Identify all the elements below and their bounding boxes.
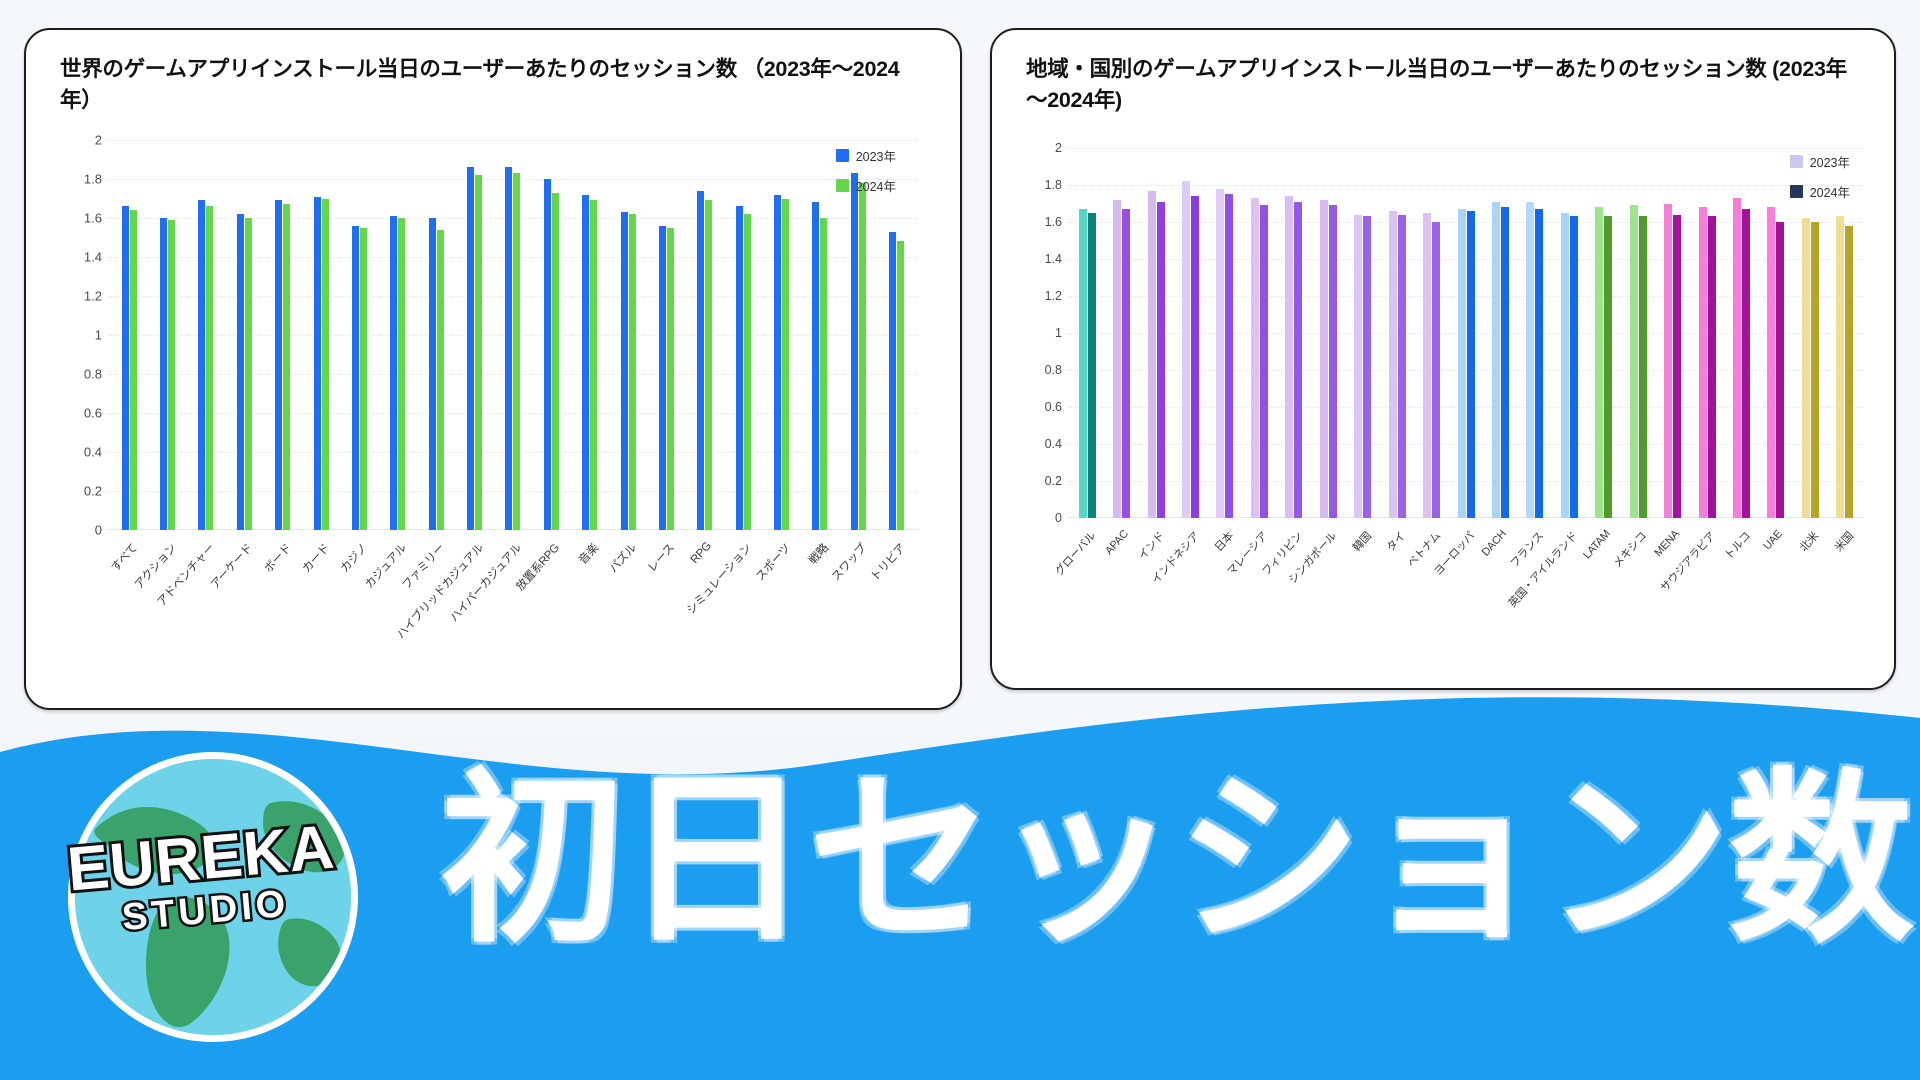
x-axis-label-cell: グローバル bbox=[1070, 524, 1104, 534]
bar-series-container bbox=[110, 140, 916, 530]
y-axis-tick-label: 0 bbox=[1020, 511, 1062, 525]
region-country-plot: 00.20.40.60.811.21.41.61.82 グローバルAPACインド… bbox=[1020, 148, 1868, 688]
bar-group bbox=[1621, 148, 1655, 518]
x-axis-label: APAC bbox=[1103, 528, 1131, 557]
x-axis-label: UAE bbox=[1761, 528, 1785, 552]
x-axis-label-cell: インドネシア bbox=[1173, 524, 1207, 534]
bar-2023 bbox=[774, 195, 781, 530]
x-axis-label-cell: パズル bbox=[609, 536, 647, 546]
bar-2023 bbox=[122, 206, 129, 530]
bar-group bbox=[494, 140, 532, 530]
bar-2024 bbox=[1501, 207, 1509, 518]
x-axis-label-cell: スポーツ bbox=[762, 536, 800, 546]
x-axis-label-cell: 北米 bbox=[1793, 524, 1827, 534]
x-axis-label: 音楽 bbox=[575, 540, 602, 568]
bar-2024 bbox=[130, 210, 137, 530]
x-axis-label-cell: すべて bbox=[110, 536, 148, 546]
y-axis-tick-label: 1.2 bbox=[1020, 289, 1062, 303]
x-axis-label-cell: 音楽 bbox=[571, 536, 609, 546]
bar-2023 bbox=[1320, 200, 1328, 518]
x-axis-label: ボード bbox=[260, 540, 295, 576]
x-axis-label-cell: レース bbox=[647, 536, 685, 546]
bar-2024 bbox=[820, 218, 827, 530]
bar-group bbox=[302, 140, 340, 530]
bar-2023 bbox=[1526, 202, 1534, 518]
x-axis-label-cell: 英国・アイルランド bbox=[1552, 524, 1586, 534]
bar-2024 bbox=[475, 175, 482, 530]
x-axis-label-cell: ベトナム bbox=[1414, 524, 1448, 534]
logo-line-2: STUDIO bbox=[39, 876, 372, 948]
x-axis-label-cell: アクション bbox=[148, 536, 186, 546]
bar-2024 bbox=[1708, 216, 1716, 518]
bar-group bbox=[647, 140, 685, 530]
bar-2024 bbox=[1776, 222, 1784, 518]
bar-2023 bbox=[1423, 213, 1431, 518]
bar-2024 bbox=[206, 206, 213, 530]
bar-group bbox=[379, 140, 417, 530]
y-axis-tick-label: 1.4 bbox=[60, 250, 102, 265]
x-axis-label-cell: カジノ bbox=[340, 536, 378, 546]
x-axis-label-cell: LATAM bbox=[1587, 524, 1621, 534]
x-axis-label: すべて bbox=[107, 540, 141, 575]
bar-2024 bbox=[1398, 215, 1406, 518]
x-axis-label-cell: スワップ bbox=[839, 536, 877, 546]
x-axis-label-cell: ボード bbox=[264, 536, 302, 546]
x-axis-label: タイ bbox=[1383, 528, 1409, 555]
bar-2024 bbox=[1604, 216, 1612, 518]
x-axis-label-cell: メキシコ bbox=[1621, 524, 1655, 534]
bar-group bbox=[1518, 148, 1552, 518]
x-axis-label-cell: DACH bbox=[1483, 524, 1517, 534]
x-axis-label: RPG bbox=[689, 540, 714, 566]
x-axis-label-cell: ファミリー bbox=[417, 536, 455, 546]
bar-2024 bbox=[437, 230, 444, 530]
x-axis-label-cell: ハイブリッドカジュアル bbox=[455, 536, 493, 546]
x-axis-label-cell: ヨーロッパ bbox=[1449, 524, 1483, 534]
bar-2024 bbox=[283, 204, 290, 530]
x-axis-label-cell: シンガポール bbox=[1311, 524, 1345, 534]
x-axis-label: トリビア bbox=[866, 540, 908, 584]
x-axis-label: スポーツ bbox=[751, 540, 793, 584]
x-axis-label-cell: タイ bbox=[1380, 524, 1414, 534]
legend-item[interactable]: 2023年 bbox=[836, 146, 896, 165]
bar-2023 bbox=[1836, 216, 1844, 518]
bar-group bbox=[1346, 148, 1380, 518]
bar-2024 bbox=[1088, 213, 1096, 518]
y-axis-tick-label: 0.8 bbox=[60, 367, 102, 382]
bar-2023 bbox=[275, 200, 282, 530]
bar-2024 bbox=[667, 228, 674, 530]
bar-2023 bbox=[160, 218, 167, 530]
bar-group bbox=[1242, 148, 1276, 518]
plot-axis-area: 00.20.40.60.811.21.41.61.82 bbox=[1020, 148, 1868, 518]
bar-2024 bbox=[1363, 216, 1371, 518]
global-genre-chart-card: 世界のゲームアプリインストール当日のユーザーあたりのセッション数 （2023年～… bbox=[24, 28, 962, 710]
x-axis-label: 北米 bbox=[1796, 528, 1822, 555]
bar-2024 bbox=[398, 218, 405, 530]
bar-group bbox=[1587, 148, 1621, 518]
x-axis-label-cell: UAE bbox=[1759, 524, 1793, 534]
y-axis-tick-label: 0.2 bbox=[60, 484, 102, 499]
legend-swatch-icon bbox=[836, 179, 849, 192]
y-axis-tick-label: 1.6 bbox=[60, 211, 102, 226]
bar-group bbox=[187, 140, 225, 530]
x-axis-label-cell: ハイパーカジュアル bbox=[494, 536, 532, 546]
bar-2023 bbox=[1699, 207, 1707, 518]
bar-group bbox=[264, 140, 302, 530]
bar-2024 bbox=[1432, 222, 1440, 518]
y-axis-tick-label: 0.2 bbox=[1020, 474, 1062, 488]
bar-2024 bbox=[322, 199, 329, 531]
legend-item[interactable]: 2024年 bbox=[1790, 182, 1850, 201]
legend-label: 2024年 bbox=[1810, 182, 1850, 201]
legend-swatch-icon bbox=[836, 149, 849, 162]
plot-axis-area: 00.20.40.60.811.21.41.61.82 bbox=[60, 140, 922, 530]
bar-group bbox=[1104, 148, 1138, 518]
x-axis-label-cell: シミュレーション bbox=[724, 536, 762, 546]
x-axis-label-cell: 米国 bbox=[1828, 524, 1862, 534]
x-axis-label: パズル bbox=[605, 540, 640, 576]
bar-2023 bbox=[1561, 213, 1569, 518]
bar-2023 bbox=[1354, 215, 1362, 518]
bar-2023 bbox=[390, 216, 397, 530]
x-axis-labels: グローバルAPACインドインドネシア日本マレーシアフィリピンシンガポール韓国タイ… bbox=[1070, 524, 1862, 534]
bar-2023 bbox=[582, 195, 589, 530]
x-axis-label-cell: トリビア bbox=[878, 536, 916, 546]
bar-2024 bbox=[1673, 215, 1681, 518]
bar-2023 bbox=[1733, 198, 1741, 518]
bar-2024 bbox=[590, 200, 597, 530]
bar-group bbox=[1690, 148, 1724, 518]
x-axis-label-cell: 日本 bbox=[1208, 524, 1242, 534]
bar-group bbox=[110, 140, 148, 530]
bar-2023 bbox=[1285, 196, 1293, 518]
y-axis-tick-label: 0.6 bbox=[1020, 400, 1062, 414]
bar-group bbox=[1828, 148, 1862, 518]
bar-2023 bbox=[1664, 204, 1672, 519]
bar-2023 bbox=[505, 167, 512, 530]
x-axis-label: レース bbox=[644, 540, 678, 575]
legend-label: 2023年 bbox=[1810, 152, 1850, 171]
bar-2024 bbox=[1122, 209, 1130, 518]
x-axis-label-cell: 韓国 bbox=[1346, 524, 1380, 534]
x-axis-label-cell: APAC bbox=[1104, 524, 1138, 534]
bar-series-container bbox=[1070, 148, 1862, 518]
bar-group bbox=[571, 140, 609, 530]
bar-2023 bbox=[1595, 207, 1603, 518]
bar-2023 bbox=[467, 167, 474, 530]
y-axis-tick-label: 0.4 bbox=[60, 445, 102, 460]
x-axis-label: DACH bbox=[1480, 528, 1509, 559]
y-axis-tick-label: 0.8 bbox=[1020, 363, 1062, 377]
bar-2024 bbox=[552, 193, 559, 530]
bar-2023 bbox=[736, 206, 743, 530]
page-title: 世界のゲームアプリインストール当日のユーザーあたりのセッション数 （2023年～… bbox=[60, 54, 920, 115]
x-axis-label-cell: トルコ bbox=[1724, 524, 1758, 534]
x-axis-label-cell: 放置系RPG bbox=[532, 536, 570, 546]
bar-group bbox=[724, 140, 762, 530]
globe-icon bbox=[68, 752, 358, 1042]
bar-2023 bbox=[851, 173, 858, 530]
bar-2024 bbox=[1535, 209, 1543, 518]
bar-2023 bbox=[544, 179, 551, 530]
bar-2023 bbox=[659, 226, 666, 530]
bar-group bbox=[609, 140, 647, 530]
y-axis-tick-label: 1 bbox=[1020, 326, 1062, 340]
page-title-secondary: 地域・国別のゲームアプリインストール当日のユーザーあたりのセッション数 (202… bbox=[1026, 54, 1854, 115]
bar-2024 bbox=[1157, 202, 1165, 518]
region-country-chart-card: 地域・国別のゲームアプリインストール当日のユーザーあたりのセッション数 (202… bbox=[990, 28, 1896, 690]
y-axis-tick-label: 1.6 bbox=[1020, 215, 1062, 229]
bar-group bbox=[1277, 148, 1311, 518]
charts-area: 世界のゲームアプリインストール当日のユーザーあたりのセッション数 （2023年～… bbox=[0, 0, 1920, 730]
bar-group bbox=[1655, 148, 1689, 518]
bar-2024 bbox=[360, 228, 367, 530]
bar-group bbox=[1552, 148, 1586, 518]
global-genre-plot: 00.20.40.60.811.21.41.61.82 すべてアクションアドベン… bbox=[60, 140, 922, 700]
legend-swatch-icon bbox=[1790, 155, 1803, 168]
y-axis-tick-label: 1.8 bbox=[1020, 178, 1062, 192]
legend-label: 2023年 bbox=[856, 146, 896, 165]
legend-item[interactable]: 2024年 bbox=[836, 176, 896, 195]
bar-group bbox=[1173, 148, 1207, 518]
x-axis-label: 米国 bbox=[1830, 528, 1856, 555]
x-axis-label-cell: アーケード bbox=[225, 536, 263, 546]
bar-2023 bbox=[237, 214, 244, 530]
bar-2023 bbox=[1802, 218, 1810, 518]
x-axis-label: カジノ bbox=[337, 540, 371, 576]
x-axis-label-cell: フランス bbox=[1518, 524, 1552, 534]
x-axis-label: 戦略 bbox=[805, 540, 832, 568]
bar-group bbox=[878, 140, 916, 530]
bar-2023 bbox=[697, 191, 704, 530]
legend-item[interactable]: 2023年 bbox=[1790, 152, 1850, 171]
bar-group bbox=[1070, 148, 1104, 518]
bar-group bbox=[1139, 148, 1173, 518]
bar-group bbox=[686, 140, 724, 530]
bar-group bbox=[1449, 148, 1483, 518]
y-axis-tick-label: 1 bbox=[60, 328, 102, 343]
x-axis-label-cell: RPG bbox=[686, 536, 724, 546]
bar-2024 bbox=[705, 200, 712, 530]
x-axis-label: 日本 bbox=[1211, 528, 1237, 555]
banner-headline: 初日セッション数 bbox=[440, 768, 1912, 954]
y-axis-tick-label: 0.4 bbox=[1020, 437, 1062, 451]
bar-group bbox=[1759, 148, 1793, 518]
bar-group bbox=[1208, 148, 1242, 518]
logo-text: EUREKA STUDIO bbox=[34, 814, 372, 948]
bar-2023 bbox=[198, 200, 205, 530]
bar-2024 bbox=[859, 183, 866, 530]
bar-2023 bbox=[429, 218, 436, 530]
x-axis-label-cell: MENA bbox=[1655, 524, 1689, 534]
bar-group bbox=[762, 140, 800, 530]
bar-2023 bbox=[889, 232, 896, 530]
bar-2023 bbox=[812, 202, 819, 530]
bar-2024 bbox=[513, 173, 520, 530]
y-axis-tick-label: 0.6 bbox=[60, 406, 102, 421]
x-axis-label-cell: インド bbox=[1139, 524, 1173, 534]
bar-2023 bbox=[1079, 209, 1087, 518]
x-axis-label-cell: サウジアラビア bbox=[1690, 524, 1724, 534]
bar-group bbox=[417, 140, 455, 530]
bar-group bbox=[455, 140, 493, 530]
y-axis-tick-label: 1.4 bbox=[1020, 252, 1062, 266]
bar-2023 bbox=[1113, 200, 1121, 518]
x-axis-labels: すべてアクションアドベンチャーアーケードボードカードカジノカジュアルファミリーハ… bbox=[110, 536, 916, 546]
bar-2023 bbox=[1182, 181, 1190, 518]
bar-2023 bbox=[1251, 198, 1259, 518]
x-axis-label: スワップ bbox=[828, 540, 870, 584]
bar-2023 bbox=[1458, 209, 1466, 518]
bar-2024 bbox=[1811, 222, 1819, 518]
bar-2024 bbox=[744, 214, 751, 530]
bar-group bbox=[1793, 148, 1827, 518]
bar-2024 bbox=[168, 220, 175, 530]
bar-2024 bbox=[1639, 216, 1647, 518]
bar-2023 bbox=[1630, 205, 1638, 518]
bar-2024 bbox=[1570, 216, 1578, 518]
y-axis-tick-label: 2 bbox=[1020, 141, 1062, 155]
bar-2024 bbox=[1225, 194, 1233, 518]
x-axis-label-cell: カード bbox=[302, 536, 340, 546]
y-axis-tick-label: 0 bbox=[60, 523, 102, 538]
x-axis-label-cell: アドベンチャー bbox=[187, 536, 225, 546]
bar-2024 bbox=[1845, 226, 1853, 518]
y-axis-tick-label: 1.2 bbox=[60, 289, 102, 304]
bar-group bbox=[532, 140, 570, 530]
bar-2023 bbox=[314, 197, 321, 530]
bar-2024 bbox=[1294, 202, 1302, 518]
bar-2024 bbox=[1191, 196, 1199, 518]
chart-legend: 2023年2024年 bbox=[836, 146, 896, 195]
bar-2024 bbox=[782, 199, 789, 531]
bar-2023 bbox=[1389, 211, 1397, 518]
bar-2024 bbox=[1329, 205, 1337, 518]
bar-group bbox=[340, 140, 378, 530]
y-axis-tick-label: 1.8 bbox=[60, 172, 102, 187]
x-axis-label: 韓国 bbox=[1348, 528, 1374, 555]
bar-group bbox=[1311, 148, 1345, 518]
legend-swatch-icon bbox=[1790, 185, 1803, 198]
y-axis-tick-label: 2 bbox=[60, 133, 102, 148]
x-axis-label-cell: フィリピン bbox=[1277, 524, 1311, 534]
bar-group bbox=[1380, 148, 1414, 518]
bar-group bbox=[148, 140, 186, 530]
bar-group bbox=[801, 140, 839, 530]
bar-group bbox=[839, 140, 877, 530]
bar-2024 bbox=[245, 218, 252, 530]
bar-2023 bbox=[1492, 202, 1500, 518]
x-axis-label: LATAM bbox=[1581, 528, 1613, 561]
bar-group bbox=[225, 140, 263, 530]
legend-label: 2024年 bbox=[856, 176, 896, 195]
chart-legend: 2023年2024年 bbox=[1790, 152, 1850, 201]
x-axis-label-cell: カジュアル bbox=[379, 536, 417, 546]
bar-2023 bbox=[1216, 189, 1224, 518]
bar-2024 bbox=[897, 241, 904, 530]
bar-2024 bbox=[1742, 209, 1750, 518]
logo-line-1: EUREKA bbox=[34, 814, 368, 905]
x-axis-label: グローバル bbox=[1051, 528, 1099, 579]
bar-2023 bbox=[352, 226, 359, 530]
bar-group bbox=[1414, 148, 1448, 518]
x-axis-label: カード bbox=[298, 540, 333, 576]
x-axis-label: トルコ bbox=[1720, 528, 1753, 563]
bar-2023 bbox=[1148, 191, 1156, 518]
bar-2023 bbox=[1767, 207, 1775, 518]
bar-2024 bbox=[629, 214, 636, 530]
eureka-studio-logo: EUREKA STUDIO bbox=[38, 742, 368, 1042]
bar-2024 bbox=[1467, 211, 1475, 518]
bar-group bbox=[1724, 148, 1758, 518]
x-axis-label-cell: 戦略 bbox=[801, 536, 839, 546]
bar-group bbox=[1483, 148, 1517, 518]
bar-2023 bbox=[621, 212, 628, 530]
x-axis-label: MENA bbox=[1652, 528, 1682, 559]
bar-2024 bbox=[1260, 205, 1268, 518]
x-axis-label-cell: マレーシア bbox=[1242, 524, 1276, 534]
x-axis-label: メキシコ bbox=[1609, 528, 1650, 571]
